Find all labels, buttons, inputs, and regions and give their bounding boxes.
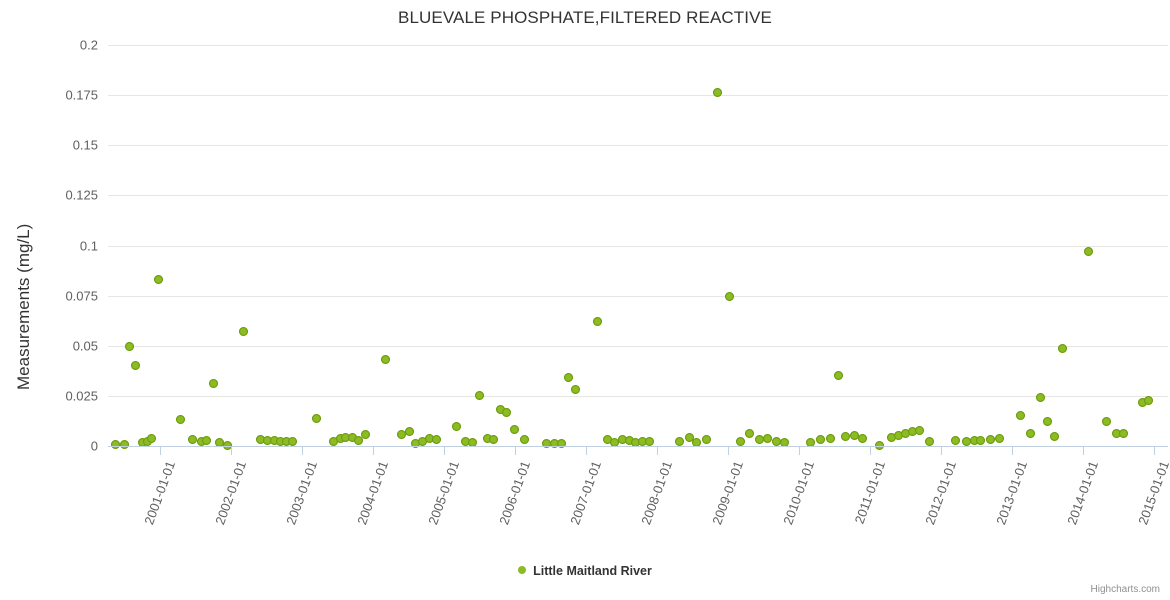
data-point-marker[interactable] bbox=[125, 342, 134, 351]
data-point-marker[interactable] bbox=[147, 434, 156, 443]
x-axis-tick-label: 2013-01-01 bbox=[992, 459, 1030, 530]
x-axis-tick bbox=[941, 446, 942, 455]
data-point-marker[interactable] bbox=[564, 373, 573, 382]
data-point-marker[interactable] bbox=[381, 355, 390, 364]
x-axis-tick-label: 2003-01-01 bbox=[282, 459, 320, 530]
data-point-marker[interactable] bbox=[520, 435, 529, 444]
data-point-marker[interactable] bbox=[713, 88, 722, 97]
y-axis-tick-label: 0.15 bbox=[73, 138, 98, 153]
data-point-marker[interactable] bbox=[209, 379, 218, 388]
x-axis-tick-label: 2012-01-01 bbox=[921, 459, 959, 530]
data-point-marker[interactable] bbox=[1102, 417, 1111, 426]
x-axis-tick bbox=[728, 446, 729, 455]
data-point-marker[interactable] bbox=[951, 436, 960, 445]
x-axis-tick-label: 2015-01-01 bbox=[1134, 459, 1170, 530]
x-axis-tick-label: 2014-01-01 bbox=[1063, 459, 1101, 530]
data-point-marker[interactable] bbox=[188, 435, 197, 444]
legend-item-label: Little Maitland River bbox=[533, 564, 652, 578]
x-axis-tick bbox=[799, 446, 800, 455]
x-axis-tick-label: 2009-01-01 bbox=[708, 459, 746, 530]
data-point-marker[interactable] bbox=[361, 430, 370, 439]
x-axis-tick-label: 2002-01-01 bbox=[211, 459, 249, 530]
x-axis-tick-label: 2005-01-01 bbox=[424, 459, 462, 530]
data-point-marker[interactable] bbox=[1043, 417, 1052, 426]
chart-title: BLUEVALE PHOSPHATE,FILTERED REACTIVE bbox=[0, 8, 1170, 28]
x-axis-tick-label: 2008-01-01 bbox=[637, 459, 675, 530]
x-axis-tick bbox=[870, 446, 871, 455]
data-point-marker[interactable] bbox=[725, 292, 734, 301]
x-axis-tick bbox=[586, 446, 587, 455]
data-point-marker[interactable] bbox=[239, 327, 248, 336]
data-point-marker[interactable] bbox=[995, 434, 1004, 443]
x-axis-tick bbox=[1154, 446, 1155, 455]
data-point-marker[interactable] bbox=[131, 361, 140, 370]
x-axis-line bbox=[108, 446, 1168, 447]
y-axis-tick-label: 0.175 bbox=[65, 88, 98, 103]
data-point-marker[interactable] bbox=[1036, 393, 1045, 402]
x-axis-tick bbox=[373, 446, 374, 455]
data-point-marker[interactable] bbox=[1050, 432, 1059, 441]
data-point-marker[interactable] bbox=[405, 427, 414, 436]
data-point-marker[interactable] bbox=[1016, 411, 1025, 420]
data-point-marker[interactable] bbox=[202, 436, 211, 445]
data-point-marker[interactable] bbox=[489, 435, 498, 444]
y-axis-tick-label: 0.075 bbox=[65, 288, 98, 303]
data-point-marker[interactable] bbox=[288, 437, 297, 446]
x-axis-tick-label: 2004-01-01 bbox=[353, 459, 391, 530]
data-point-marker[interactable] bbox=[312, 414, 321, 423]
data-point-marker[interactable] bbox=[176, 415, 185, 424]
data-point-marker[interactable] bbox=[858, 434, 867, 443]
data-point-marker[interactable] bbox=[475, 391, 484, 400]
gridline bbox=[108, 195, 1168, 196]
gridline bbox=[108, 246, 1168, 247]
x-axis-tick bbox=[1083, 446, 1084, 455]
gridline bbox=[108, 396, 1168, 397]
gridline bbox=[108, 346, 1168, 347]
data-point-marker[interactable] bbox=[986, 435, 995, 444]
data-point-marker[interactable] bbox=[834, 371, 843, 380]
gridline bbox=[108, 95, 1168, 96]
data-point-marker[interactable] bbox=[432, 435, 441, 444]
y-axis-tick-label: 0.025 bbox=[65, 388, 98, 403]
data-point-marker[interactable] bbox=[976, 436, 985, 445]
x-axis-tick-label: 2007-01-01 bbox=[566, 459, 604, 530]
gridline bbox=[108, 145, 1168, 146]
x-axis-tick bbox=[231, 446, 232, 455]
x-axis-tick bbox=[302, 446, 303, 455]
gridline bbox=[108, 296, 1168, 297]
data-point-marker[interactable] bbox=[1058, 344, 1067, 353]
data-point-marker[interactable] bbox=[702, 435, 711, 444]
x-axis-tick bbox=[515, 446, 516, 455]
x-axis-tick-label: 2011-01-01 bbox=[850, 459, 888, 530]
data-point-marker[interactable] bbox=[452, 422, 461, 431]
y-axis-tick-label: 0 bbox=[91, 439, 98, 454]
y-axis-tick-label: 0.1 bbox=[80, 238, 98, 253]
data-point-marker[interactable] bbox=[111, 440, 120, 449]
data-point-marker[interactable] bbox=[745, 429, 754, 438]
data-point-marker[interactable] bbox=[571, 385, 580, 394]
x-axis-tick bbox=[657, 446, 658, 455]
data-point-marker[interactable] bbox=[841, 432, 850, 441]
y-axis-tick-label: 0.2 bbox=[80, 38, 98, 53]
x-axis-tick bbox=[1012, 446, 1013, 455]
gridline bbox=[108, 45, 1168, 46]
x-axis-tick bbox=[160, 446, 161, 455]
y-axis-tick-label: 0.125 bbox=[65, 188, 98, 203]
data-point-marker[interactable] bbox=[510, 425, 519, 434]
data-point-marker[interactable] bbox=[1144, 396, 1153, 405]
data-point-marker[interactable] bbox=[1026, 429, 1035, 438]
data-point-marker[interactable] bbox=[1119, 429, 1128, 438]
data-point-marker[interactable] bbox=[154, 275, 163, 284]
data-point-marker[interactable] bbox=[763, 434, 772, 443]
data-point-marker[interactable] bbox=[1084, 247, 1093, 256]
highcharts-container: BLUEVALE PHOSPHATE,FILTERED REACTIVE Mea… bbox=[0, 0, 1170, 600]
x-axis-tick-label: 2006-01-01 bbox=[495, 459, 533, 530]
highcharts-credits[interactable]: Highcharts.com bbox=[1091, 584, 1160, 595]
data-point-marker[interactable] bbox=[826, 434, 835, 443]
data-point-marker[interactable] bbox=[120, 440, 129, 449]
chart-legend: Little Maitland River bbox=[0, 563, 1170, 578]
data-point-marker[interactable] bbox=[915, 426, 924, 435]
data-point-marker[interactable] bbox=[816, 435, 825, 444]
x-axis-tick-label: 2010-01-01 bbox=[779, 459, 817, 530]
data-point-marker[interactable] bbox=[502, 408, 511, 417]
data-point-marker[interactable] bbox=[593, 317, 602, 326]
circle-marker-icon bbox=[518, 566, 526, 574]
y-axis-tick-labels: 0.20.1750.150.1250.10.0750.050.0250 bbox=[0, 0, 98, 600]
plot-area bbox=[108, 45, 1168, 446]
x-axis-tick bbox=[444, 446, 445, 455]
y-axis-tick-label: 0.05 bbox=[73, 338, 98, 353]
legend-item-little-maitland-river[interactable]: Little Maitland River bbox=[518, 563, 652, 578]
x-axis-tick-label: 2001-01-01 bbox=[140, 459, 178, 530]
